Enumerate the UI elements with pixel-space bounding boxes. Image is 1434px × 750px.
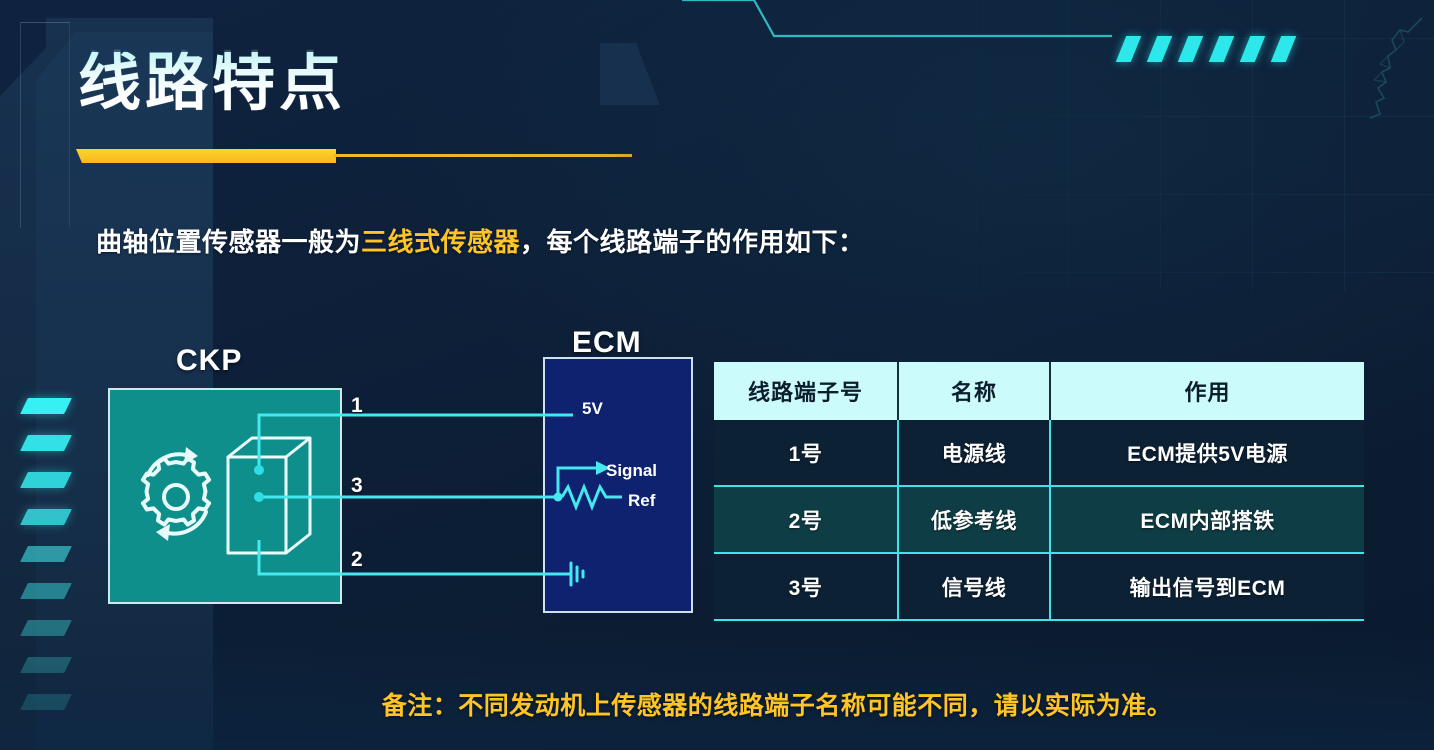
table-row: 3号 信号线 输出信号到ECM: [714, 553, 1364, 620]
cell-name: 信号线: [898, 553, 1050, 620]
ecm-pin-signal-label: Signal: [606, 461, 657, 481]
cell-terminal: 1号: [714, 420, 898, 486]
table-header-name: 名称: [898, 362, 1050, 420]
cell-function: 输出信号到ECM: [1050, 553, 1364, 620]
cube-node-top: [254, 465, 264, 475]
cell-terminal: 3号: [714, 553, 898, 620]
header-line-decoration: [682, 0, 1322, 40]
wire-number-3: 3: [351, 474, 363, 498]
ecm-pin-ref-label: Ref: [628, 491, 655, 511]
footnote-text: 备注：不同发动机上传感器的线路端子名称可能不同，请以实际为准。: [262, 686, 1173, 722]
cell-function: ECM提供5V电源: [1050, 420, 1364, 486]
cell-name: 低参考线: [898, 486, 1050, 553]
wire-number-2: 2: [351, 548, 363, 572]
cell-terminal: 2号: [714, 486, 898, 553]
slide-root: 线路特点 曲轴位置传感器一般为三线式传感器，每个线路端子的作用如下： CKP E…: [0, 0, 1434, 750]
table-header-function: 作用: [1050, 362, 1364, 420]
table-header-terminal: 线路端子号: [714, 362, 898, 420]
cube-node-middle: [254, 492, 264, 502]
ecm-pin-5v-label: 5V: [582, 399, 603, 419]
ecm-node: [554, 493, 563, 502]
table-row: 2号 低参考线 ECM内部搭铁: [714, 486, 1364, 553]
table-row: 1号 电源线 ECM提供5V电源: [714, 420, 1364, 486]
terminal-function-table: 线路端子号 名称 作用 1号 电源线 ECM提供5V电源 2号 低参考线 ECM…: [714, 362, 1364, 621]
wire-number-1: 1: [351, 394, 363, 418]
table-header-row: 线路端子号 名称 作用: [714, 362, 1364, 420]
footnote: 备注：不同发动机上传感器的线路端子名称可能不同，请以实际为准。: [0, 686, 1434, 722]
cell-function: ECM内部搭铁: [1050, 486, 1364, 553]
background-map-outline: [1304, 6, 1434, 136]
header-stripe-decoration: [1121, 36, 1321, 62]
rotation-arrow-head-bottom: [156, 524, 170, 541]
ground-symbol-icon: [571, 563, 583, 585]
cell-name: 电源线: [898, 420, 1050, 486]
